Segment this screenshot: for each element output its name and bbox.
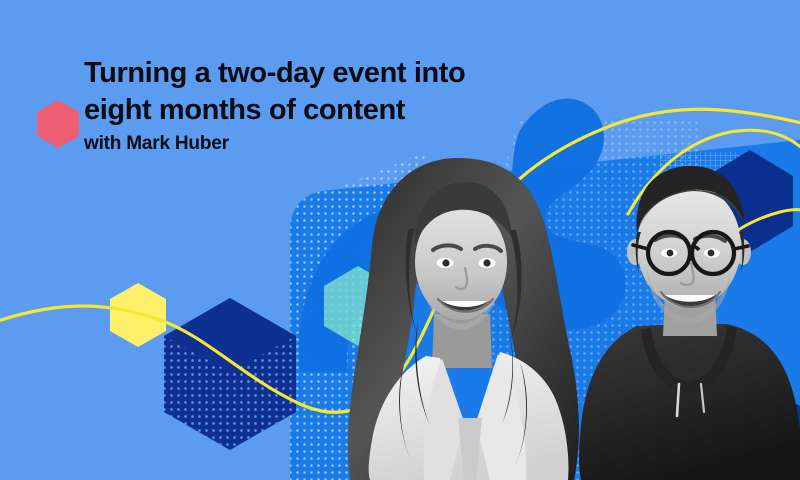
- navy-dotted-hexagon: [160, 298, 300, 460]
- pink-hexagon: [37, 100, 79, 148]
- headline-block: Turning a two-day event into eight month…: [84, 55, 554, 155]
- yellow-hexagon: [110, 283, 166, 347]
- speaker-subtitle: with Mark Huber: [84, 133, 554, 156]
- page-title: Turning a two-day event into eight month…: [84, 55, 554, 129]
- promo-banner: Turning a two-day event into eight month…: [0, 0, 800, 480]
- speaker-photo-man: [575, 140, 800, 480]
- speaker-photo-woman: [330, 150, 600, 480]
